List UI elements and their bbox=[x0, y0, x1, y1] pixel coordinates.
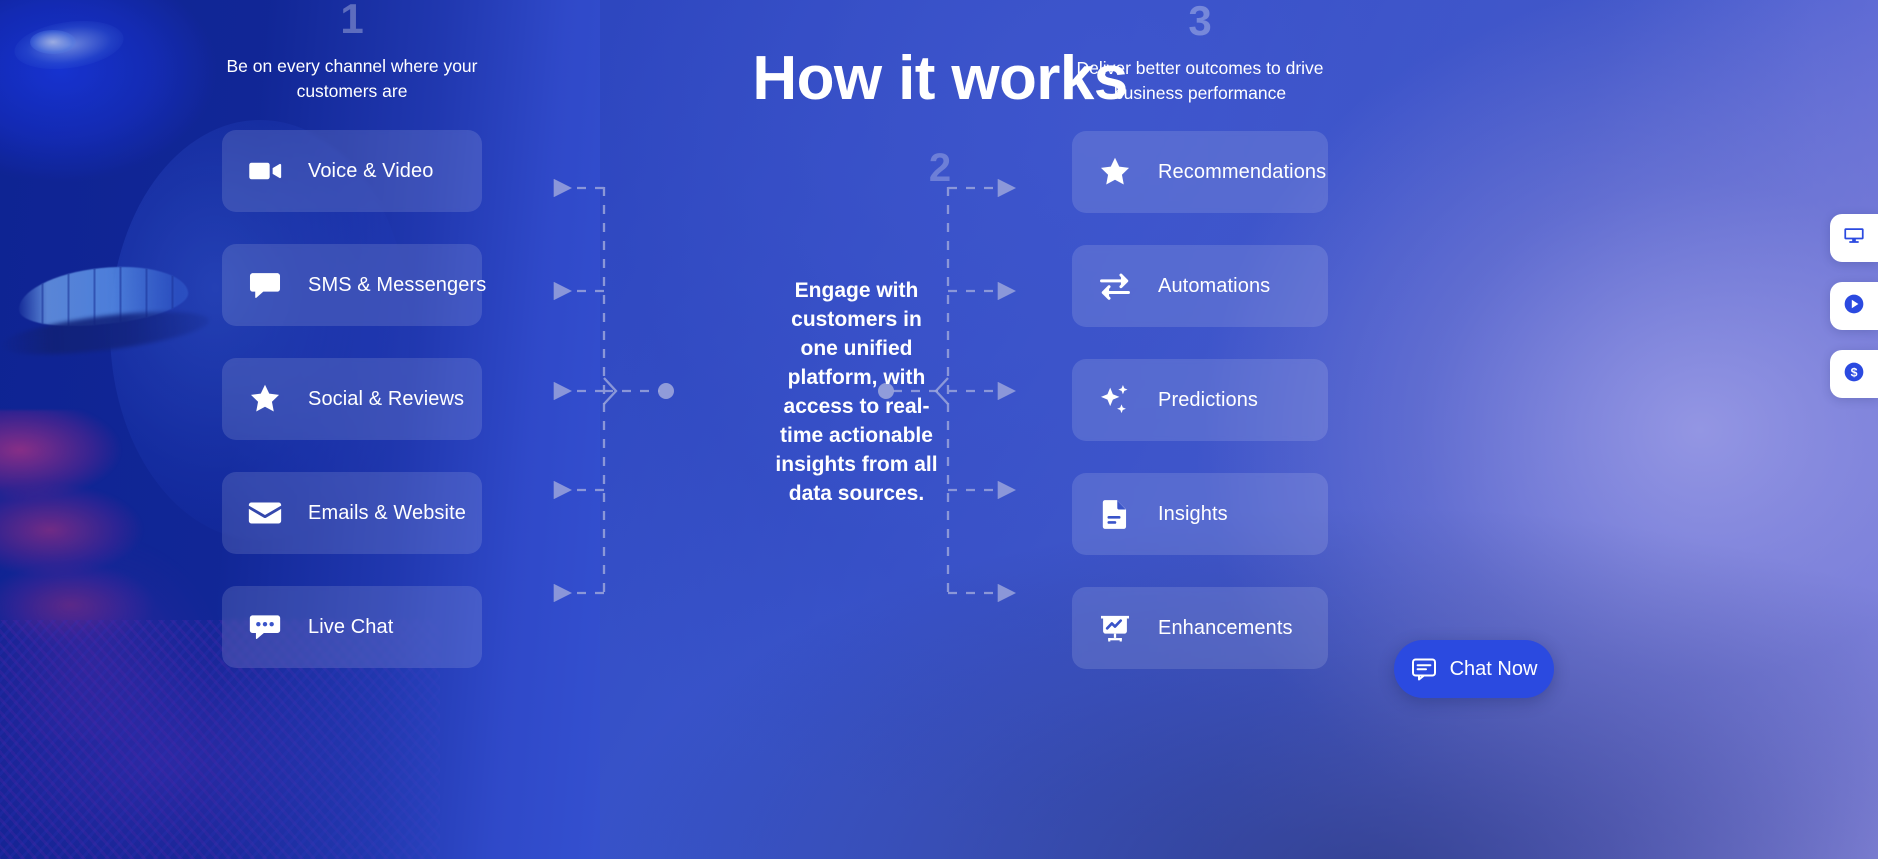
step-number-1: 1 bbox=[222, 0, 482, 40]
card-voice-and-video[interactable]: Voice & Video bbox=[222, 130, 482, 212]
demo-monitor-tab[interactable] bbox=[1830, 214, 1878, 262]
channels-column-subtitle: Be on every channel where your customers… bbox=[222, 54, 482, 104]
card-predictions[interactable]: Predictions bbox=[1072, 359, 1328, 441]
chat-widget-icon bbox=[1411, 656, 1437, 682]
pricing-tab[interactable]: $ bbox=[1830, 350, 1878, 398]
side-tab-rail: $ bbox=[1830, 214, 1878, 418]
card-label: SMS & Messengers bbox=[308, 274, 486, 297]
card-sms-and-messengers[interactable]: SMS & Messengers bbox=[222, 244, 482, 326]
card-label: Recommendations bbox=[1158, 161, 1326, 184]
card-automations[interactable]: Automations bbox=[1072, 245, 1328, 327]
video-camera-icon bbox=[248, 154, 282, 188]
chat-now-label: Chat Now bbox=[1450, 658, 1538, 681]
chat-dots-icon bbox=[248, 610, 282, 644]
card-label: Voice & Video bbox=[308, 160, 433, 183]
card-live-chat[interactable]: Live Chat bbox=[222, 586, 482, 668]
card-social-and-reviews[interactable]: Social & Reviews bbox=[222, 358, 482, 440]
card-label: Live Chat bbox=[308, 616, 393, 639]
play-circle-icon bbox=[1843, 293, 1865, 320]
card-label: Automations bbox=[1158, 275, 1270, 298]
outcomes-column: 3 Deliver better outcomes to drive busin… bbox=[1072, 0, 1328, 701]
document-icon bbox=[1098, 497, 1132, 531]
card-emails-and-website[interactable]: Emails & Website bbox=[222, 472, 482, 554]
channels-card-list: Voice & Video SMS & Messengers Social & … bbox=[222, 130, 482, 668]
chat-now-button[interactable]: Chat Now bbox=[1394, 640, 1554, 698]
card-enhancements[interactable]: Enhancements bbox=[1072, 587, 1328, 669]
step-number-3: 3 bbox=[1072, 0, 1328, 42]
center-description: Engage with customers in one unified pla… bbox=[775, 277, 938, 509]
chart-board-icon bbox=[1098, 611, 1132, 645]
card-label: Enhancements bbox=[1158, 617, 1293, 640]
card-label: Emails & Website bbox=[308, 502, 466, 525]
monitor-icon bbox=[1843, 225, 1865, 252]
star-icon bbox=[248, 382, 282, 416]
card-label: Predictions bbox=[1158, 389, 1258, 412]
card-recommendations[interactable]: Recommendations bbox=[1072, 131, 1328, 213]
card-insights[interactable]: Insights bbox=[1072, 473, 1328, 555]
channels-column: 1 Be on every channel where your custome… bbox=[222, 0, 482, 700]
star-icon bbox=[1098, 155, 1132, 189]
video-play-tab[interactable] bbox=[1830, 282, 1878, 330]
dollar-icon: $ bbox=[1843, 361, 1865, 388]
chat-bubble-icon bbox=[248, 268, 282, 302]
outcomes-column-subtitle: Deliver better outcomes to drive busines… bbox=[1072, 56, 1328, 106]
card-label: Social & Reviews bbox=[308, 388, 464, 411]
envelope-icon bbox=[248, 496, 282, 530]
page-background: 1 Be on every channel where your custome… bbox=[0, 0, 1878, 859]
outcomes-card-list: Recommendations Automations Predictions bbox=[1072, 131, 1328, 669]
card-label: Insights bbox=[1158, 503, 1228, 526]
svg-text:$: $ bbox=[1851, 365, 1858, 379]
sparkles-icon bbox=[1098, 383, 1132, 417]
two-way-arrows-icon bbox=[1098, 269, 1132, 303]
